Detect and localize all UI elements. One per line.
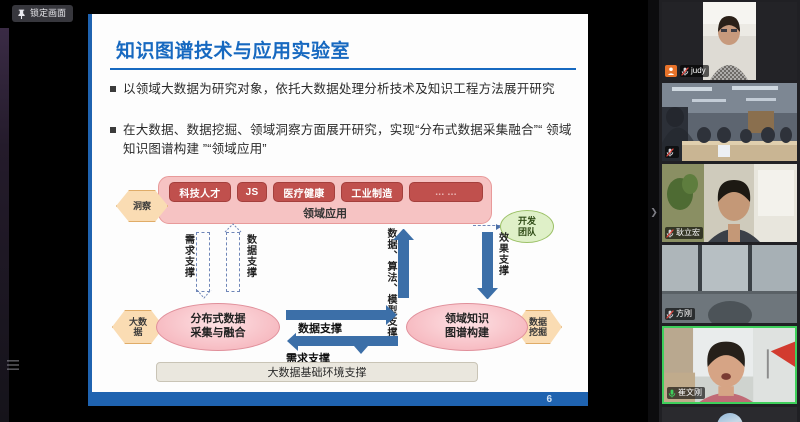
participant-name-badge: 崔文刚 — [667, 387, 705, 399]
mic-muted-icon — [666, 148, 674, 157]
shared-screen-stage: 锁定画面 知识图谱技术与应用实验室 以领域大数据为研究对象，依托大数据处理分析技… — [0, 0, 659, 422]
mic-muted-icon — [681, 67, 689, 76]
application-layer-label: 领域应用 — [159, 205, 491, 221]
application-chip: ... ... — [409, 182, 483, 202]
bullet-item: 在大数据、数据挖掘、领域洞察方面展开研究，实现“分布式数据采集融合”“ 领域知识… — [110, 121, 575, 159]
label-demand-support-vertical: 需求支撑 — [182, 234, 194, 278]
person-icon — [667, 67, 675, 75]
bullet-marker-icon — [110, 127, 116, 133]
slide-footer — [92, 392, 588, 406]
participant-name: judy — [691, 67, 706, 75]
participant-panel[interactable]: judy — [659, 0, 800, 422]
label-data-support-vertical: 数据支撑 — [244, 234, 256, 278]
arrow-down-effect-support — [482, 232, 493, 288]
participant-name-badge: 方刚 — [665, 308, 695, 320]
participant-name-badge: 耿立宏 — [665, 227, 703, 239]
bullet-text: 在大数据、数据挖掘、领域洞察方面展开研究，实现“分布式数据采集融合”“ 领域知识… — [123, 121, 575, 159]
node-distributed-collection: 分布式数据 采集与融合 — [156, 303, 280, 351]
participant-name: 崔文刚 — [678, 389, 702, 397]
pinned-badge — [665, 65, 677, 77]
lock-screen-label: 锁定画面 — [30, 9, 66, 18]
participant-name: 方刚 — [676, 310, 692, 318]
pin-icon — [17, 9, 26, 19]
video-feed — [662, 83, 797, 161]
avatar — [717, 413, 743, 422]
participant-tile[interactable]: 方刚 — [662, 245, 797, 323]
label-effect-support-vertical: 效果支撑 — [496, 232, 508, 276]
arrow-right-data-support — [286, 310, 386, 320]
dashed-arrow-down — [196, 232, 210, 292]
mic-muted-icon — [666, 229, 674, 238]
meeting-window: 锁定画面 知识图谱技术与应用实验室 以领域大数据为研究对象，依托大数据处理分析技… — [0, 0, 800, 422]
participant-tile[interactable] — [662, 407, 797, 422]
bullet-marker-icon — [110, 86, 116, 92]
arrow-left-demand-support — [298, 336, 398, 346]
base-environment-bar: 大数据基础环境支撑 — [156, 362, 478, 382]
dashed-arrow-up — [226, 232, 240, 292]
participant-name-badge — [665, 146, 679, 158]
application-chip: 医疗健康 — [273, 182, 335, 202]
arrow-down-tick — [354, 346, 368, 354]
dev-team-node: 开发 团队 — [500, 210, 554, 243]
label-data-support: 数据支撑 — [296, 320, 344, 336]
participant-name: 耿立宏 — [676, 229, 700, 237]
participant-tile[interactable] — [662, 83, 797, 161]
bullet-text: 以领域大数据为研究对象，依托大数据处理分析技术及知识工程方法展开研究 — [123, 80, 575, 99]
list-icon[interactable] — [6, 358, 20, 372]
mic-muted-icon — [666, 310, 674, 319]
mic-on-icon — [668, 389, 676, 398]
title-divider — [110, 68, 576, 70]
dashed-arrow-down-head — [196, 290, 212, 299]
participant-tile-active-speaker[interactable]: 崔文刚 — [662, 326, 797, 404]
slide-title: 知识图谱技术与应用实验室 — [116, 36, 350, 63]
application-layer-band: 科技人才 JS 医疗健康 工业制造 ... ... 领域应用 — [158, 176, 492, 224]
architecture-diagram: 科技人才 JS 医疗健康 工业制造 ... ... 领域应用 洞察 大数 据 数… — [110, 170, 576, 382]
participant-name-badge: judy — [680, 65, 709, 77]
node-knowledge-graph: 领域知识 图谱构建 — [406, 303, 528, 351]
arrow-up-model-support — [398, 240, 409, 298]
application-chip: 工业制造 — [341, 182, 403, 202]
bullet-item: 以领域大数据为研究对象，依托大数据处理分析技术及知识工程方法展开研究 — [110, 80, 575, 99]
participant-tile[interactable]: 耿立宏 — [662, 164, 797, 242]
slide-page-number: 6 — [546, 392, 552, 406]
presentation-slide: 知识图谱技术与应用实验室 以领域大数据为研究对象，依托大数据处理分析技术及知识工… — [88, 14, 588, 406]
dashed-arrow-up-head — [224, 223, 242, 233]
participant-tile[interactable]: judy — [662, 2, 797, 80]
application-chip: 科技人才 — [169, 182, 231, 202]
application-chip: JS — [237, 182, 267, 202]
lock-screen-button[interactable]: 锁定画面 — [12, 5, 73, 22]
chevron-right-icon[interactable]: ❯ — [650, 204, 658, 220]
dev-team-connector — [473, 225, 500, 226]
